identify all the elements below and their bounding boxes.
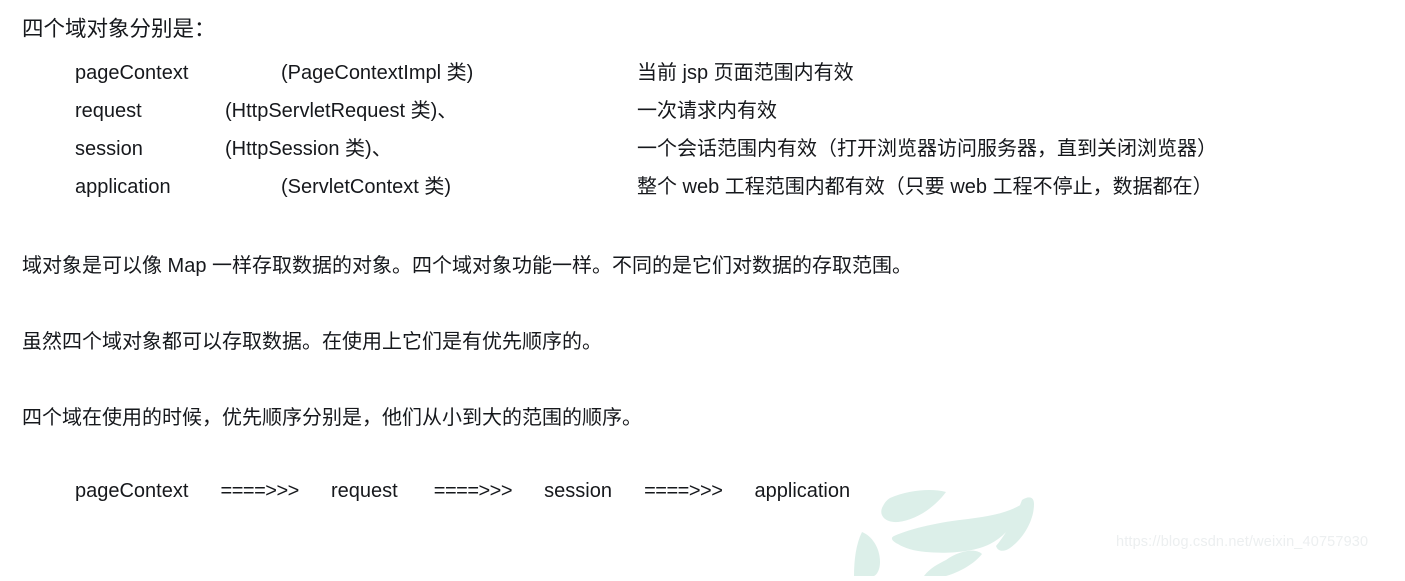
flow-node-request: request — [331, 480, 398, 502]
flow-arrow-icon: ====>>> — [221, 480, 299, 502]
scope-object-class: (HttpServletRequest 类)、 — [225, 98, 457, 124]
flow-node-application: application — [755, 480, 851, 502]
scope-object-row: application (ServletContext 类) 整个 web 工程… — [0, 174, 1405, 202]
scope-object-row: session (HttpSession 类)、 一个会话范围内有效（打开浏览器… — [0, 136, 1405, 164]
flow-node-pagecontext: pageContext — [75, 480, 188, 502]
body-paragraph: 四个域在使用的时候，优先顺序分别是，他们从小到大的范围的顺序。 — [22, 405, 642, 431]
scope-object-name: pageContext — [75, 60, 188, 86]
scope-object-class: (HttpSession 类)、 — [225, 136, 392, 162]
scope-object-name: request — [75, 98, 142, 124]
scope-object-description: 一个会话范围内有效（打开浏览器访问服务器，直到关闭浏览器） — [637, 136, 1217, 162]
body-paragraph: 虽然四个域对象都可以存取数据。在使用上它们是有优先顺序的。 — [22, 329, 602, 355]
flow-arrow-icon: ====>>> — [434, 480, 512, 502]
page-title: 四个域对象分别是： — [22, 19, 216, 41]
scope-object-class: (PageContextImpl 类) — [281, 60, 473, 86]
flow-arrow-icon: ====>>> — [644, 480, 722, 502]
document-page: https://blog.csdn.net/weixin_40757930 四个… — [0, 0, 1405, 565]
scope-object-description: 当前 jsp 页面范围内有效 — [637, 60, 854, 86]
body-paragraph: 域对象是可以像 Map 一样存取数据的对象。四个域对象功能一样。不同的是它们对数… — [22, 253, 912, 279]
scope-object-row: pageContext (PageContextImpl 类) 当前 jsp 页… — [0, 60, 1405, 88]
scope-object-description: 整个 web 工程范围内都有效（只要 web 工程不停止，数据都在） — [637, 174, 1213, 200]
document-content: 四个域对象分别是： pageContext (PageContextImpl 类… — [0, 0, 1405, 565]
scope-object-name: application — [75, 174, 171, 200]
scope-object-class: (ServletContext 类) — [281, 174, 451, 200]
scope-object-description: 一次请求内有效 — [637, 98, 777, 124]
scope-object-row: request (HttpServletRequest 类)、 一次请求内有效 — [0, 98, 1405, 126]
scope-priority-flow: pageContext ====>>> request ====>>> sess… — [75, 478, 850, 504]
flow-node-session: session — [544, 480, 612, 502]
scope-object-name: session — [75, 136, 143, 162]
